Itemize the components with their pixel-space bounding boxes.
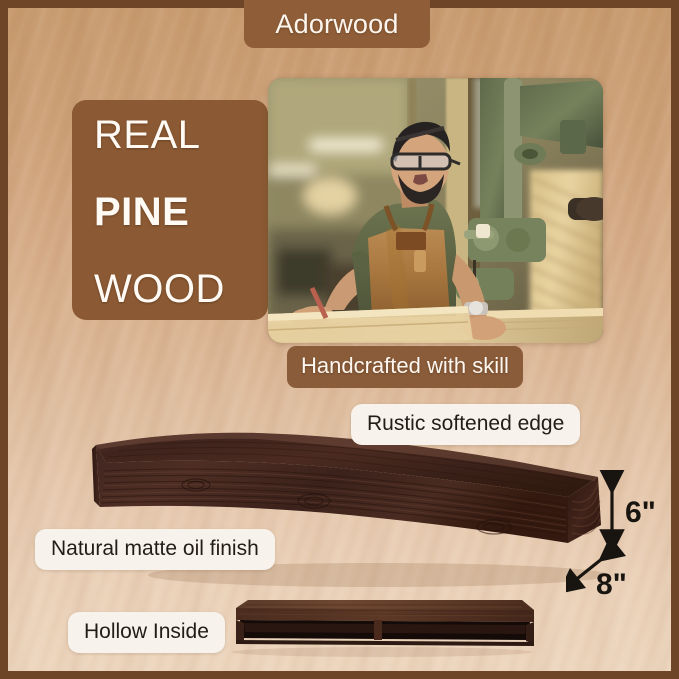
headline-line-3: WOOD (94, 268, 268, 310)
workshop-photo (268, 78, 603, 343)
product-infographic: Adorwood REAL PINE WOOD (0, 0, 679, 679)
feature-label-hollow-inside: Hollow Inside (84, 620, 209, 643)
dimension-depth-label: 8" (596, 570, 627, 600)
photo-caption-text: Handcrafted with skill (301, 353, 509, 378)
feature-badge-oil-finish: Natural matte oil finish (35, 529, 275, 570)
feature-label-rustic-edge: Rustic softened edge (367, 412, 564, 435)
feature-badge-rustic-edge: Rustic softened edge (351, 404, 580, 445)
headline-line-1: REAL (94, 114, 268, 156)
feature-label-oil-finish: Natural matte oil finish (51, 537, 259, 560)
headline-line-2: PINE (94, 191, 268, 233)
photo-caption-badge: Handcrafted with skill (287, 346, 523, 388)
mantel-beam-hollow-view (222, 596, 542, 658)
brand-name: Adorwood (275, 11, 398, 38)
brand-badge: Adorwood (244, 0, 430, 48)
headline-block: REAL PINE WOOD (72, 100, 268, 320)
feature-badge-hollow-inside: Hollow Inside (68, 612, 225, 653)
dimension-height-label: 6" (625, 498, 656, 528)
